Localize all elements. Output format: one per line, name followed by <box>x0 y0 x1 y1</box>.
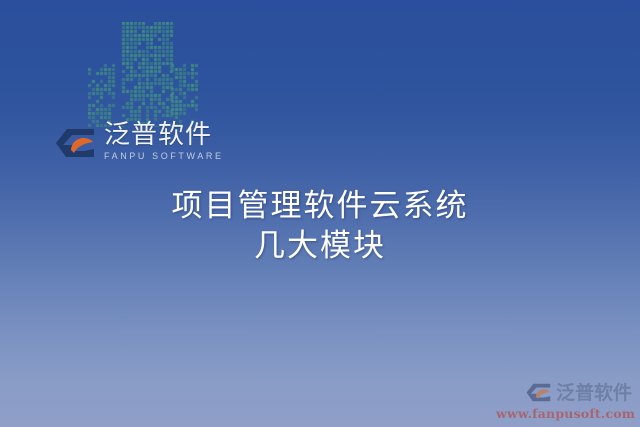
fanpu-watermark-mark-icon <box>525 380 553 405</box>
brand-name-cn: 泛普软件 <box>104 121 224 149</box>
watermark-logo-row: 泛普软件 <box>496 380 632 405</box>
page-title-line-1: 项目管理软件云系统 <box>0 186 640 226</box>
fanpu-logo-mark-icon <box>54 123 98 163</box>
watermark-brand-name: 泛普软件 <box>556 382 632 404</box>
slide-canvas: 泛普软件 FANPU SOFTWARE 项目管理软件云系统 几大模块 泛普软件 … <box>0 0 640 427</box>
pixel-cityscape <box>88 22 198 127</box>
watermark: 泛普软件 www.fanpusoft.com <box>496 380 632 421</box>
brand-logo-text: 泛普软件 FANPU SOFTWARE <box>104 121 224 162</box>
brand-logo: 泛普软件 FANPU SOFTWARE <box>54 121 224 163</box>
brand-name-en: FANPU SOFTWARE <box>104 150 224 162</box>
watermark-url: www.fanpusoft.com <box>496 406 632 421</box>
pixel-cityscape-canvas <box>88 22 198 127</box>
page-title: 项目管理软件云系统 几大模块 <box>0 186 640 266</box>
page-title-line-2: 几大模块 <box>0 226 640 266</box>
